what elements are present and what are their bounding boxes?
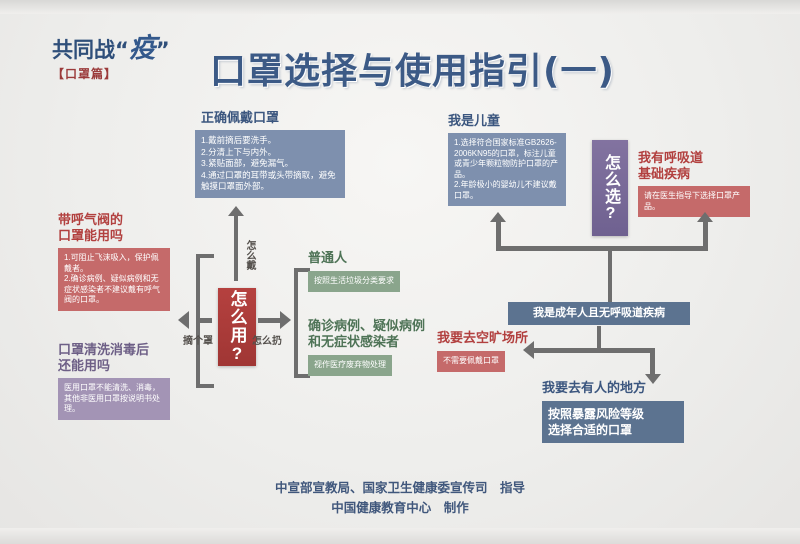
node-confirmed-cases: 确诊病例、疑似病例 和无症状感染者 视作医疗废弃物处理 <box>308 318 448 376</box>
node-adult-healthy: 我是成年人且无呼吸道疾病 <box>508 302 690 325</box>
node-wear-correctly-body: 1.戴前摘后要洗手。 2.分清上下与内外。 3.紧贴面部，避免漏气。 4.通过口… <box>195 130 345 198</box>
pivot-how-to-choose-label: 怎么选? <box>601 154 619 223</box>
connector-choose-right-riser <box>703 222 708 248</box>
node-ordinary-people: 普通人 按照生活垃圾分类要求 <box>308 250 428 292</box>
logo-quote-close: ” <box>156 38 170 62</box>
connector-choose-down <box>608 246 612 304</box>
node-wash-reuse-body: 医用口罩不能清洗、消毒，其他非医用口罩按说明书处理。 <box>58 378 170 420</box>
node-crowded-place-body: 按照暴露风险等级 选择合适的口罩 <box>542 401 684 443</box>
connector-crowded-riser <box>650 348 655 376</box>
footer: 中宣部宣教局、国家卫生健康委宣传司 指导 中国健康教育中心 制作 <box>0 478 800 518</box>
arrow-up-child <box>490 212 506 222</box>
connector-adult-down <box>597 326 601 350</box>
node-open-area-head: 我要去空旷场所 <box>437 330 549 346</box>
logo-yi-char: 疫 <box>129 33 156 64</box>
node-wash-reuse: 口罩清洗消毒后 还能用吗 医用口罩不能清洗、消毒，其他非医用口罩按说明书处理。 <box>58 342 170 420</box>
node-respiratory-disease: 我有呼吸道 基础疾病 请在医生指导下选择口罩产品。 <box>638 150 750 217</box>
pivot-how-to-use: 怎么用? <box>218 288 256 366</box>
node-valve-mask-head: 带呼气阀的 口罩能用吗 <box>58 212 170 244</box>
page-title: 口罩选择与使用指引(一) <box>210 42 640 94</box>
logo-main-label: 共同战 <box>52 38 115 62</box>
node-crowded-place-head: 我要去有人的地方 <box>542 380 690 396</box>
node-respiratory-disease-head: 我有呼吸道 基础疾病 <box>638 150 750 182</box>
connector-left-bracket-bottom <box>196 384 214 388</box>
node-wear-correctly: 正确佩戴口罩 1.戴前摘后要洗手。 2.分清上下与内外。 3.紧贴面部，避免漏气… <box>195 110 345 198</box>
logo-quote-open: “ <box>115 38 129 62</box>
node-confirmed-cases-head: 确诊病例、疑似病例 和无症状感染者 <box>308 318 448 350</box>
edge-label-how-to-discard: 怎么扔 <box>252 336 282 348</box>
node-valve-mask-body: 1.可阻止飞沫吸入，保护佩戴者。 2.确诊病例、疑似病例和无症状感染者不建议戴有… <box>58 248 170 311</box>
arrow-right-discard <box>280 311 291 329</box>
node-child: 我是儿童 1.选择符合国家标准GB2626-2006KN95的口罩，标注儿童或青… <box>448 113 566 206</box>
node-ordinary-people-head: 普通人 <box>308 250 428 266</box>
logo-main-text: 共同战“疫” <box>52 38 170 61</box>
footer-line-2: 中国健康教育中心 制作 <box>0 498 800 518</box>
pivot-how-to-choose: 怎么选? <box>592 140 628 236</box>
node-valve-mask: 带呼气阀的 口罩能用吗 1.可阻止飞沫吸入，保护佩戴者。 2.确诊病例、疑似病例… <box>58 212 170 311</box>
logo-subtitle: 【口罩篇】 <box>52 65 117 82</box>
connector-wear-vertical <box>234 215 238 281</box>
edge-label-how-to-wear: 怎么戴 <box>243 240 255 270</box>
edge-label-how-to-remove: 摘个罩 <box>183 336 213 348</box>
node-respiratory-disease-body: 请在医生指导下选择口罩产品。 <box>638 186 750 217</box>
node-open-area: 我要去空旷场所 不需要佩戴口罩 <box>437 330 549 372</box>
node-child-head: 我是儿童 <box>448 113 566 129</box>
campaign-logo: 共同战“疫” 【口罩篇】 <box>52 38 170 96</box>
connector-left-stub <box>196 318 212 323</box>
node-ordinary-people-body: 按照生活垃圾分类要求 <box>308 271 400 292</box>
top-band <box>0 0 800 14</box>
node-open-area-body: 不需要佩戴口罩 <box>437 351 505 372</box>
pivot-how-to-use-label: 怎么用? <box>228 290 247 364</box>
infographic-poster: 共同战“疫” 【口罩篇】 口罩选择与使用指引(一) 正确佩戴口罩 1.戴前摘后要… <box>0 0 800 544</box>
node-confirmed-cases-body: 视作医疗废弃物处理 <box>308 355 392 376</box>
node-wash-reuse-head: 口罩清洗消毒后 还能用吗 <box>58 342 170 374</box>
node-child-body: 1.选择符合国家标准GB2626-2006KN95的口罩，标注儿童或青少年颗粒物… <box>448 133 566 206</box>
footer-line-1: 中宣部宣教局、国家卫生健康委宣传司 指导 <box>0 478 800 498</box>
node-crowded-place: 我要去有人的地方 按照暴露风险等级 选择合适的口罩 <box>542 380 690 443</box>
connector-choose-horizontal <box>496 246 708 251</box>
arrow-up-wear <box>228 206 244 216</box>
arrow-up-respiratory <box>697 212 713 222</box>
connector-right-stub <box>258 318 280 323</box>
node-adult-healthy-body: 我是成年人且无呼吸道疾病 <box>508 302 690 325</box>
connector-choose-left-riser <box>496 222 501 248</box>
node-wear-correctly-head: 正确佩戴口罩 <box>201 110 345 126</box>
bottom-band <box>0 528 800 544</box>
connector-adult-horizontal <box>534 348 654 353</box>
connector-right-bracket-vertical <box>294 268 298 378</box>
arrow-left-remove <box>178 311 189 329</box>
connector-left-bracket-top <box>196 254 214 258</box>
